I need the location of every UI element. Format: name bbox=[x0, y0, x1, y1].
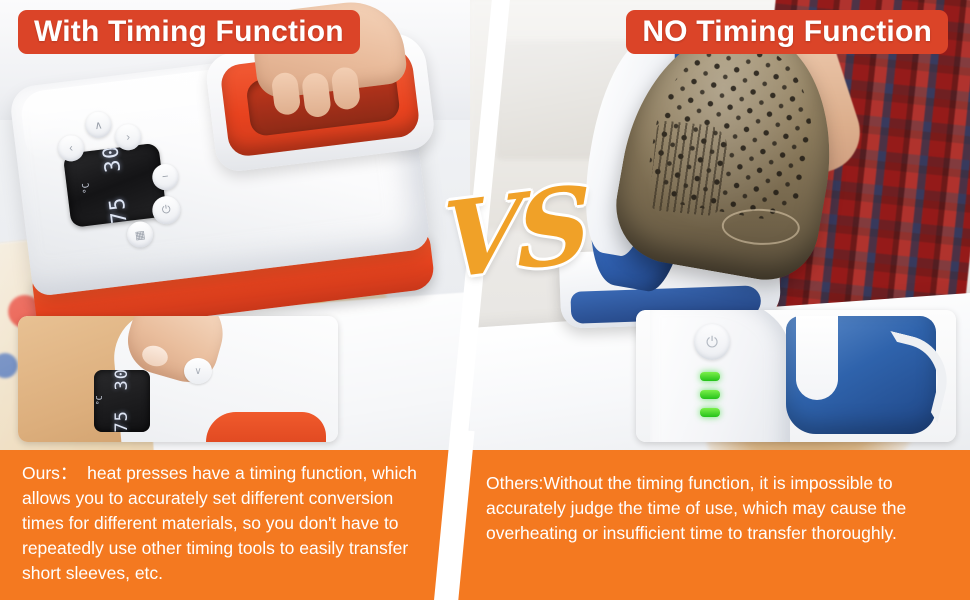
comparison-poster: 175 °C 30 S ∧ ‹ › ▦ ⏻ − bbox=[0, 0, 970, 600]
heat-press-machine: 175 °C 30 S ∧ ‹ › ▦ ⏻ − bbox=[8, 37, 455, 336]
inset-lcd-time-value: 30 bbox=[112, 370, 132, 390]
left-headline-badge: With Timing Function bbox=[18, 10, 360, 54]
versus-badge: VS bbox=[443, 139, 585, 325]
inset-down-button[interactable]: ∨ bbox=[184, 358, 212, 384]
iron-handle-opening bbox=[796, 316, 838, 400]
inset-lcd-temperature-unit: °C bbox=[95, 395, 104, 405]
lcd-temperature-unit: °C bbox=[81, 182, 92, 194]
up-button[interactable]: ∧ bbox=[84, 110, 113, 139]
left-caption-text: Ours： heat presses have a timing functio… bbox=[22, 461, 430, 586]
steam-iron bbox=[546, 2, 894, 350]
status-led-2 bbox=[700, 390, 720, 399]
status-led-1 bbox=[700, 372, 720, 381]
status-led-3 bbox=[700, 408, 720, 417]
right-caption-bar: Others:Without the timing function, it i… bbox=[440, 450, 970, 600]
inset-lcd-display: 175 °C 30 S bbox=[94, 370, 150, 432]
soleplate-ring bbox=[721, 208, 800, 247]
mode-button[interactable]: ▦ bbox=[126, 220, 155, 249]
lcd-temperature-value: 175 bbox=[104, 196, 133, 228]
iron-power-button[interactable]: ⏻ bbox=[694, 324, 730, 360]
right-inset-photo: ⏻ bbox=[636, 310, 956, 442]
soleplate-ribs bbox=[648, 120, 729, 217]
right-headline-badge: NO Timing Function bbox=[626, 10, 948, 54]
left-caption-bar: Ours： heat presses have a timing functio… bbox=[0, 450, 475, 600]
press-red-trim bbox=[206, 412, 326, 442]
inset-lcd-temperature-value: 175 bbox=[112, 410, 132, 432]
left-inset-photo: 175 °C 30 S ∨ bbox=[18, 316, 338, 442]
caption-area: Ours： heat presses have a timing functio… bbox=[0, 450, 970, 600]
power-button[interactable]: ⏻ bbox=[151, 195, 182, 226]
press-control-panel: 175 °C 30 S ∧ ‹ › ▦ ⏻ − bbox=[34, 95, 222, 275]
right-caption-text: Others:Without the timing function, it i… bbox=[486, 471, 956, 546]
